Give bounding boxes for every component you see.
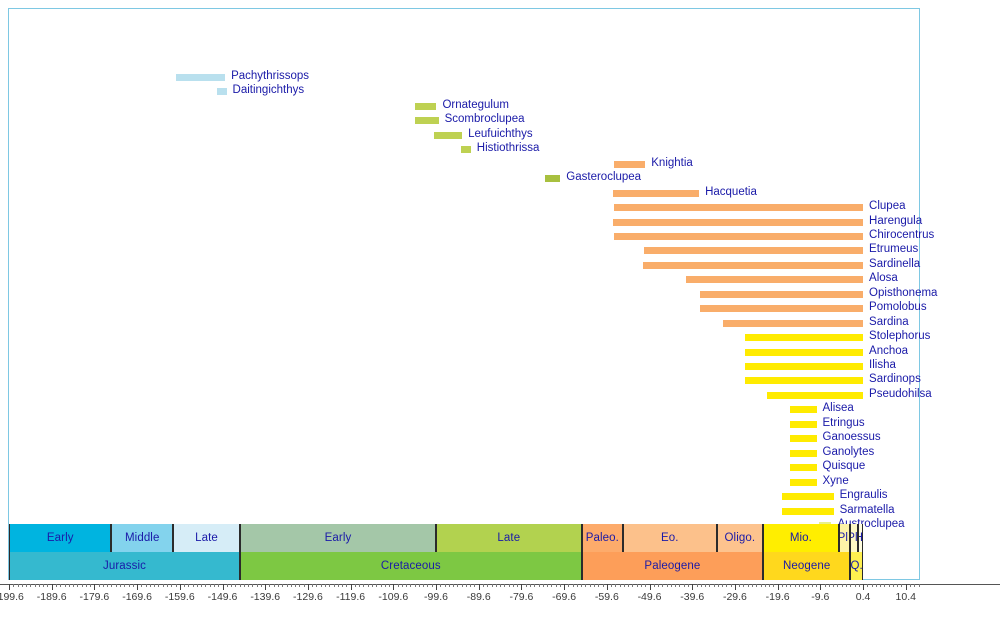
axis-minor-tick <box>496 584 497 587</box>
range-bar[interactable] <box>790 435 816 442</box>
range-bar[interactable] <box>461 146 471 153</box>
axis-minor-tick <box>133 584 134 587</box>
axis-minor-tick <box>842 584 843 587</box>
axis-minor-tick <box>43 584 44 587</box>
epoch-paleo-5: Paleo. <box>582 524 623 552</box>
taxon-label: Leufuichthys <box>468 129 533 140</box>
axis-minor-tick <box>513 584 514 587</box>
axis-minor-tick <box>611 584 612 587</box>
axis-minor-tick <box>675 584 676 587</box>
band-label: Middle <box>125 532 159 544</box>
band-label: Q. <box>850 560 862 572</box>
axis-minor-tick <box>509 584 510 587</box>
axis-major-tick <box>778 584 779 590</box>
axis-minor-tick <box>773 584 774 587</box>
axis-minor-tick <box>419 584 420 587</box>
range-bar[interactable] <box>613 219 863 226</box>
taxon-label: Scombroclupea <box>445 114 525 125</box>
axis-tick-label: -49.6 <box>638 591 662 603</box>
axis-minor-tick <box>158 584 159 587</box>
axis-minor-tick <box>124 584 125 587</box>
axis-tick-label: -99.6 <box>424 591 448 603</box>
band-label: Eo. <box>661 532 679 544</box>
axis-minor-tick <box>197 584 198 587</box>
axis-minor-tick <box>603 584 604 587</box>
axis-minor-tick <box>278 584 279 587</box>
axis-tick-label: -59.6 <box>595 591 619 603</box>
axis-minor-tick <box>615 584 616 587</box>
axis-minor-tick <box>594 584 595 587</box>
axis-minor-tick <box>598 584 599 587</box>
epoch-middle-1: Middle <box>111 524 172 552</box>
taxon-label: Anchoa <box>869 346 908 357</box>
axis-minor-tick <box>325 584 326 587</box>
axis-minor-tick <box>368 584 369 587</box>
axis-tick-label: -179.6 <box>80 591 110 603</box>
axis-minor-tick <box>914 584 915 587</box>
range-bar[interactable] <box>745 363 863 370</box>
axis-minor-tick <box>193 584 194 587</box>
axis-minor-tick <box>526 584 527 587</box>
axis-major-tick <box>436 584 437 590</box>
axis-minor-tick <box>99 584 100 587</box>
range-bar[interactable] <box>790 421 816 428</box>
axis-minor-tick <box>338 584 339 587</box>
axis-minor-tick <box>406 584 407 587</box>
axis-minor-tick <box>684 584 685 587</box>
axis-minor-tick <box>833 584 834 587</box>
axis-minor-tick <box>470 584 471 587</box>
axis-minor-tick <box>150 584 151 587</box>
axis-tick-label: -69.6 <box>552 591 576 603</box>
axis-minor-tick <box>551 584 552 587</box>
range-bar[interactable] <box>745 377 863 384</box>
taxon-label: Alisea <box>823 403 854 414</box>
epoch-late-2: Late <box>173 524 240 552</box>
axis-major-tick <box>393 584 394 590</box>
axis-minor-tick <box>423 584 424 587</box>
axis-minor-tick <box>329 584 330 587</box>
epoch-eo-6: Eo. <box>623 524 717 552</box>
axis-minor-tick <box>107 584 108 587</box>
axis-minor-tick <box>701 584 702 587</box>
axis-minor-tick <box>214 584 215 587</box>
epoch-pl-9: Pl. <box>839 524 851 552</box>
axis-minor-tick <box>825 584 826 587</box>
axis-minor-tick <box>748 584 749 587</box>
axis-minor-tick <box>184 584 185 587</box>
taxon-label: Engraulis <box>840 490 888 501</box>
axis-minor-tick <box>632 584 633 587</box>
axis-minor-tick <box>69 584 70 587</box>
axis-minor-tick <box>808 584 809 587</box>
axis-minor-tick <box>919 584 920 587</box>
axis-minor-tick <box>65 584 66 587</box>
axis-minor-tick <box>756 584 757 587</box>
axis-tick-label: -139.6 <box>250 591 280 603</box>
axis-minor-tick <box>846 584 847 587</box>
axis-minor-tick <box>287 584 288 587</box>
axis-minor-tick <box>837 584 838 587</box>
axis-minor-tick <box>654 584 655 587</box>
epoch-early-0: Early <box>9 524 111 552</box>
axis-minor-tick <box>176 584 177 587</box>
range-bar[interactable] <box>643 262 863 269</box>
axis-major-tick <box>94 584 95 590</box>
axis-minor-tick <box>671 584 672 587</box>
taxon-label: Gasteroclupea <box>566 172 641 183</box>
band-label: H. <box>858 532 863 544</box>
taxon-label: Pomolobus <box>869 302 927 313</box>
axis-minor-tick <box>312 584 313 587</box>
axis-minor-tick <box>761 584 762 587</box>
axis-minor-tick <box>709 584 710 587</box>
axis-minor-tick <box>22 584 23 587</box>
axis-minor-tick <box>47 584 48 587</box>
axis-major-tick <box>863 584 864 590</box>
axis-minor-tick <box>859 584 860 587</box>
axis-minor-tick <box>304 584 305 587</box>
band-label: Late <box>497 532 520 544</box>
axis-minor-tick <box>77 584 78 587</box>
axis-tick-label: -169.6 <box>122 591 152 603</box>
axis-minor-tick <box>39 584 40 587</box>
axis-tick-label: -149.6 <box>208 591 238 603</box>
axis-minor-tick <box>910 584 911 587</box>
axis-major-tick <box>9 584 10 590</box>
period-neogene-3: Neogene <box>763 552 850 580</box>
axis-minor-tick <box>355 584 356 587</box>
axis-minor-tick <box>402 584 403 587</box>
axis-minor-tick <box>637 584 638 587</box>
axis-major-tick <box>479 584 480 590</box>
axis-minor-tick <box>295 584 296 587</box>
taxon-label: Hacquetia <box>705 187 757 198</box>
axis-minor-tick <box>210 584 211 587</box>
axis-major-tick <box>735 584 736 590</box>
axis-minor-tick <box>188 584 189 587</box>
axis-minor-tick <box>13 584 14 587</box>
axis-minor-tick <box>790 584 791 587</box>
axis-minor-tick <box>269 584 270 587</box>
axis-minor-tick <box>163 584 164 587</box>
range-bar[interactable] <box>790 406 816 413</box>
taxon-label: Opisthonema <box>869 288 937 299</box>
axis-minor-tick <box>901 584 902 587</box>
axis-major-tick <box>351 584 352 590</box>
axis-minor-tick <box>855 584 856 587</box>
axis-tick-label: -39.6 <box>680 591 704 603</box>
axis-major-tick <box>564 584 565 590</box>
axis-minor-tick <box>240 584 241 587</box>
epoch-early-3: Early <box>240 524 436 552</box>
range-bar[interactable] <box>782 508 833 515</box>
stratigraphic-range-chart: JurassicCretaceousPaleogeneNeogeneQ. Ear… <box>0 0 1000 630</box>
axis-minor-tick <box>440 584 441 587</box>
axis-tick-label: -119.6 <box>336 591 365 603</box>
axis-minor-tick <box>492 584 493 587</box>
axis-minor-tick <box>363 584 364 587</box>
axis-minor-tick <box>726 584 727 587</box>
axis-major-tick <box>650 584 651 590</box>
axis-tick-label: -159.6 <box>165 591 195 603</box>
axis-minor-tick <box>556 584 557 587</box>
axis-minor-tick <box>227 584 228 587</box>
axis-minor-tick <box>218 584 219 587</box>
axis-minor-tick <box>376 584 377 587</box>
axis-minor-tick <box>547 584 548 587</box>
axis-minor-tick <box>620 584 621 587</box>
axis-minor-tick <box>299 584 300 587</box>
axis-minor-tick <box>688 584 689 587</box>
epoch-oligo-7: Oligo. <box>717 524 764 552</box>
range-bar[interactable] <box>700 291 863 298</box>
time-axis: -199.6-189.6-179.6-169.6-159.6-149.6-139… <box>0 584 1000 630</box>
axis-minor-tick <box>60 584 61 587</box>
band-label: Oligo. <box>725 532 756 544</box>
axis-minor-tick <box>389 584 390 587</box>
range-bar[interactable] <box>790 479 816 486</box>
axis-minor-tick <box>248 584 249 587</box>
range-bar[interactable] <box>790 464 816 471</box>
axis-major-tick <box>820 584 821 590</box>
taxon-label: Ilisha <box>869 360 896 371</box>
axis-minor-tick <box>641 584 642 587</box>
axis-minor-tick <box>812 584 813 587</box>
axis-minor-tick <box>30 584 31 587</box>
taxon-label: Sardina <box>869 317 909 328</box>
range-bar[interactable] <box>614 204 863 211</box>
axis-minor-tick <box>316 584 317 587</box>
axis-minor-tick <box>103 584 104 587</box>
axis-tick-label: -89.6 <box>467 591 491 603</box>
axis-minor-tick <box>534 584 535 587</box>
axis-minor-tick <box>829 584 830 587</box>
axis-minor-tick <box>86 584 87 587</box>
range-bar[interactable] <box>176 74 225 81</box>
axis-minor-tick <box>850 584 851 587</box>
taxon-label: Sarmatella <box>840 505 895 516</box>
axis-minor-tick <box>257 584 258 587</box>
taxon-label: Etrumeus <box>869 244 918 255</box>
axis-minor-tick <box>560 584 561 587</box>
epoch-late-4: Late <box>436 524 582 552</box>
axis-minor-tick <box>427 584 428 587</box>
axis-minor-tick <box>718 584 719 587</box>
axis-minor-tick <box>658 584 659 587</box>
bottom-period-band-row: JurassicCretaceousPaleogeneNeogeneQ. <box>0 552 1000 580</box>
axis-minor-tick <box>581 584 582 587</box>
range-bar[interactable] <box>415 103 436 110</box>
axis-minor-tick <box>282 584 283 587</box>
axis-tick-label: -79.6 <box>509 591 533 603</box>
band-label: Pl. <box>839 532 851 544</box>
axis-minor-tick <box>415 584 416 587</box>
axis-tick-label: -199.6 <box>0 591 24 603</box>
axis-minor-tick <box>662 584 663 587</box>
epoch-pl-10: Pl. <box>850 524 858 552</box>
axis-major-tick <box>137 584 138 590</box>
axis-minor-tick <box>201 584 202 587</box>
axis-tick-label: -9.6 <box>811 591 829 603</box>
axis-minor-tick <box>539 584 540 587</box>
taxon-label: Quisque <box>823 461 866 472</box>
axis-minor-tick <box>782 584 783 587</box>
axis-minor-tick <box>897 584 898 587</box>
epoch-mio-8: Mio. <box>763 524 839 552</box>
axis-major-tick <box>906 584 907 590</box>
taxon-label: Knightia <box>651 158 693 169</box>
axis-major-tick <box>180 584 181 590</box>
range-bar[interactable] <box>723 320 863 327</box>
axis-minor-tick <box>645 584 646 587</box>
axis-minor-tick <box>722 584 723 587</box>
axis-minor-tick <box>624 584 625 587</box>
taxon-label: Stolephorus <box>869 331 930 342</box>
band-label: Mio. <box>790 532 812 544</box>
range-bar[interactable] <box>782 493 833 500</box>
range-bar[interactable] <box>545 175 560 182</box>
axis-major-tick <box>52 584 53 590</box>
range-bar[interactable] <box>614 233 863 240</box>
taxon-label: Alosa <box>869 273 898 284</box>
axis-minor-tick <box>231 584 232 587</box>
band-label: Paleo. <box>586 532 619 544</box>
axis-minor-tick <box>795 584 796 587</box>
taxon-label: Sardinops <box>869 374 921 385</box>
bottom-epoch-band-row: EarlyMiddleLateEarlyLatePaleo.Eo.Oligo.M… <box>0 524 1000 552</box>
range-bar[interactable] <box>613 190 699 197</box>
band-label: Early <box>325 532 352 544</box>
axis-minor-tick <box>167 584 168 587</box>
axis-minor-tick <box>799 584 800 587</box>
taxon-label: Xyne <box>823 476 849 487</box>
axis-minor-tick <box>116 584 117 587</box>
taxon-label: Pseudohilsa <box>869 389 932 400</box>
axis-minor-tick <box>26 584 27 587</box>
taxon-label: Ganolytes <box>823 447 875 458</box>
axis-major-tick <box>308 584 309 590</box>
range-bar[interactable] <box>767 392 863 399</box>
axis-minor-tick <box>743 584 744 587</box>
taxon-label: Daitingichthys <box>233 85 305 96</box>
axis-minor-tick <box>346 584 347 587</box>
range-bar[interactable] <box>790 450 816 457</box>
axis-minor-tick <box>769 584 770 587</box>
axis-tick-label: 10.4 <box>896 591 916 603</box>
axis-minor-tick <box>141 584 142 587</box>
axis-minor-tick <box>171 584 172 587</box>
axis-minor-tick <box>714 584 715 587</box>
axis-minor-tick <box>398 584 399 587</box>
axis-major-tick <box>521 584 522 590</box>
axis-major-tick <box>692 584 693 590</box>
axis-minor-tick <box>457 584 458 587</box>
axis-minor-tick <box>889 584 890 587</box>
axis-minor-tick <box>252 584 253 587</box>
axis-minor-tick <box>90 584 91 587</box>
axis-minor-tick <box>880 584 881 587</box>
axis-minor-tick <box>261 584 262 587</box>
band-label: Pl. <box>850 532 858 544</box>
axis-minor-tick <box>803 584 804 587</box>
axis-minor-tick <box>244 584 245 587</box>
range-bar[interactable] <box>614 161 646 168</box>
range-bar[interactable] <box>700 305 863 312</box>
range-bar[interactable] <box>644 247 863 254</box>
axis-minor-tick <box>590 584 591 587</box>
range-bar[interactable] <box>217 88 227 95</box>
band-label: Cretaceous <box>381 560 441 572</box>
axis-minor-tick <box>18 584 19 587</box>
taxon-label: Ganoessus <box>823 432 881 443</box>
axis-minor-tick <box>129 584 130 587</box>
axis-major-tick <box>607 584 608 590</box>
axis-major-tick <box>265 584 266 590</box>
axis-minor-tick <box>705 584 706 587</box>
axis-major-tick <box>223 584 224 590</box>
axis-minor-tick <box>765 584 766 587</box>
taxon-label: Ornategulum <box>442 100 508 111</box>
range-bar[interactable] <box>434 132 462 139</box>
range-bar[interactable] <box>745 349 863 356</box>
axis-tick-label: -19.6 <box>766 591 790 603</box>
axis-minor-tick <box>274 584 275 587</box>
axis-minor-tick <box>120 584 121 587</box>
axis-minor-tick <box>372 584 373 587</box>
axis-minor-tick <box>739 584 740 587</box>
range-bar[interactable] <box>415 117 438 124</box>
axis-minor-tick <box>205 584 206 587</box>
range-bar[interactable] <box>686 276 863 283</box>
period-paleogene-2: Paleogene <box>582 552 763 580</box>
axis-minor-tick <box>504 584 505 587</box>
axis-minor-tick <box>359 584 360 587</box>
axis-minor-tick <box>867 584 868 587</box>
axis-minor-tick <box>449 584 450 587</box>
axis-minor-tick <box>342 584 343 587</box>
axis-tick-label: 0.4 <box>856 591 871 603</box>
axis-minor-tick <box>483 584 484 587</box>
axis-minor-tick <box>500 584 501 587</box>
axis-minor-tick <box>872 584 873 587</box>
axis-minor-tick <box>577 584 578 587</box>
axis-minor-tick <box>697 584 698 587</box>
axis-minor-tick <box>517 584 518 587</box>
axis-minor-tick <box>235 584 236 587</box>
axis-minor-tick <box>410 584 411 587</box>
axis-minor-tick <box>381 584 382 587</box>
axis-minor-tick <box>816 584 817 587</box>
axis-tick-label: -109.6 <box>378 591 408 603</box>
axis-minor-tick <box>146 584 147 587</box>
axis-tick-label: -189.6 <box>37 591 67 603</box>
axis-minor-tick <box>487 584 488 587</box>
axis-minor-tick <box>585 584 586 587</box>
axis-minor-tick <box>893 584 894 587</box>
taxon-label: Chirocentrus <box>869 230 934 241</box>
axis-minor-tick <box>321 584 322 587</box>
axis-minor-tick <box>679 584 680 587</box>
axis-minor-tick <box>462 584 463 587</box>
band-label: Jurassic <box>103 560 146 572</box>
axis-minor-tick <box>543 584 544 587</box>
range-bar[interactable] <box>745 334 863 341</box>
taxon-label: Clupea <box>869 201 905 212</box>
taxon-label: Sardinella <box>869 259 920 270</box>
axis-minor-tick <box>56 584 57 587</box>
taxon-label: Histiothrissa <box>477 143 540 154</box>
